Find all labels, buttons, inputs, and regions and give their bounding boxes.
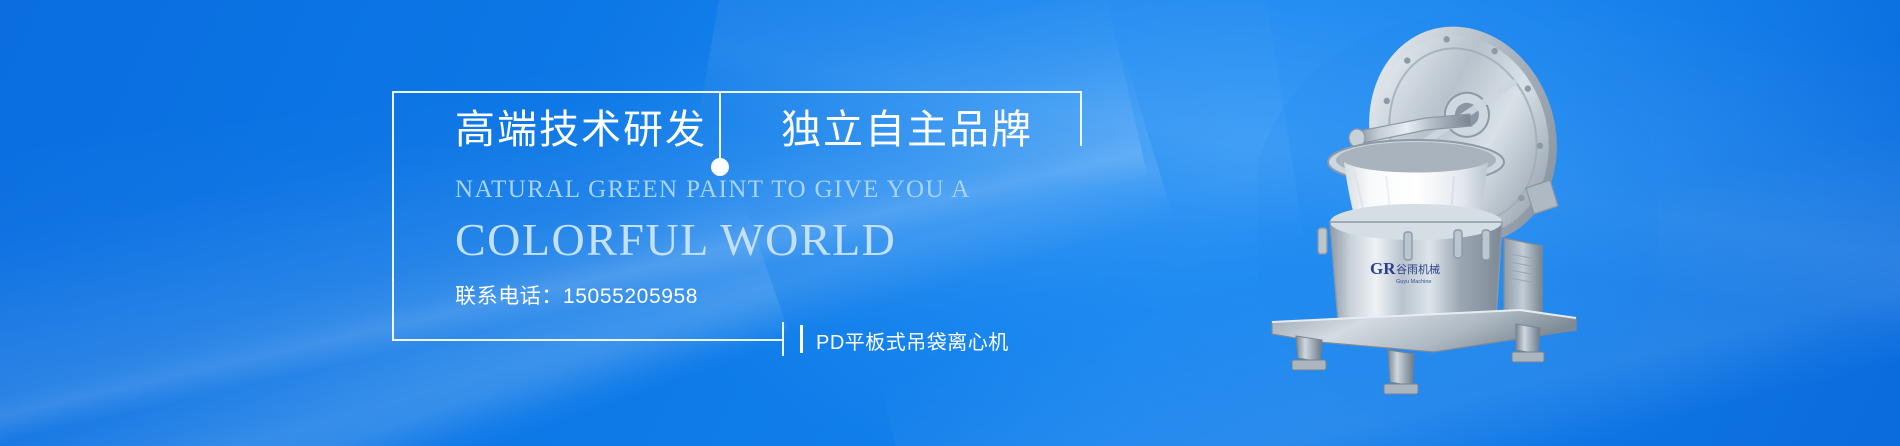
headline-phrase-2: 独立自主品牌 bbox=[781, 110, 1033, 150]
subtitle-english-small: NATURAL GREEN PAINT TO GIVE YOU A bbox=[455, 176, 1175, 204]
corner-frame-bottom-segment bbox=[392, 279, 394, 339]
svg-text:Guyu Machine: Guyu Machine bbox=[1396, 279, 1431, 285]
caption-rule-icon bbox=[392, 339, 784, 341]
promo-banner: 高端技术研发 独立自主品牌 NATURAL GREEN PAINT TO GIV… bbox=[0, 0, 1900, 446]
banner-copy: 高端技术研发 独立自主品牌 NATURAL GREEN PAINT TO GIV… bbox=[455, 110, 1175, 310]
headline-phrase-1: 高端技术研发 bbox=[455, 110, 707, 150]
svg-text:GR: GR bbox=[1370, 259, 1396, 278]
contact-phone: 联系电话：15055205958 bbox=[455, 280, 1175, 310]
subtitle-english-large: COLORFUL WORLD bbox=[455, 213, 1175, 266]
product-caption: PD平板式吊袋离心机 bbox=[816, 326, 1009, 355]
centrifuge-illustration: GR 谷雨机械 Guyu Machine bbox=[1258, 10, 1658, 440]
caption-rule-end-tick bbox=[782, 322, 784, 356]
headline: 高端技术研发 独立自主品牌 bbox=[455, 110, 1175, 150]
caption-accent-bar bbox=[800, 325, 803, 353]
product-photo-centrifuge: GR 谷雨机械 Guyu Machine bbox=[1258, 10, 1658, 440]
svg-text:谷雨机械: 谷雨机械 bbox=[1396, 262, 1440, 276]
